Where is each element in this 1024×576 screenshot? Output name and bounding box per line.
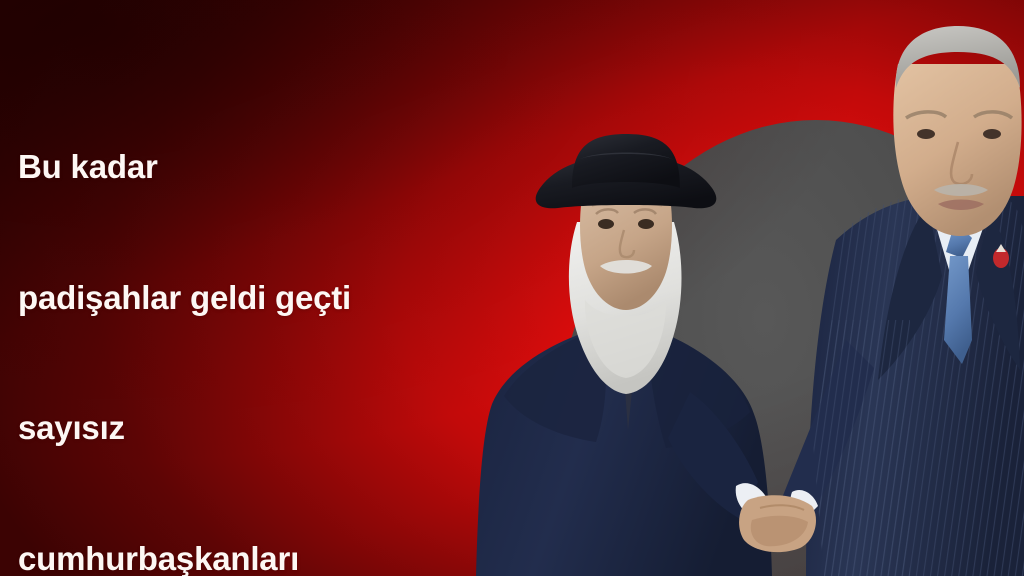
- quote-card: Bu kadar padişahlar geldi geçti sayısız …: [0, 0, 1024, 576]
- quote-line: cumhurbaşkanları: [18, 537, 518, 576]
- quote-line: sayısız: [18, 406, 518, 450]
- quote-line: padişahlar geldi geçti: [18, 276, 518, 320]
- quote-line: Bu kadar: [18, 145, 518, 189]
- quote-text-block: Bu kadar padişahlar geldi geçti sayısız …: [18, 58, 518, 576]
